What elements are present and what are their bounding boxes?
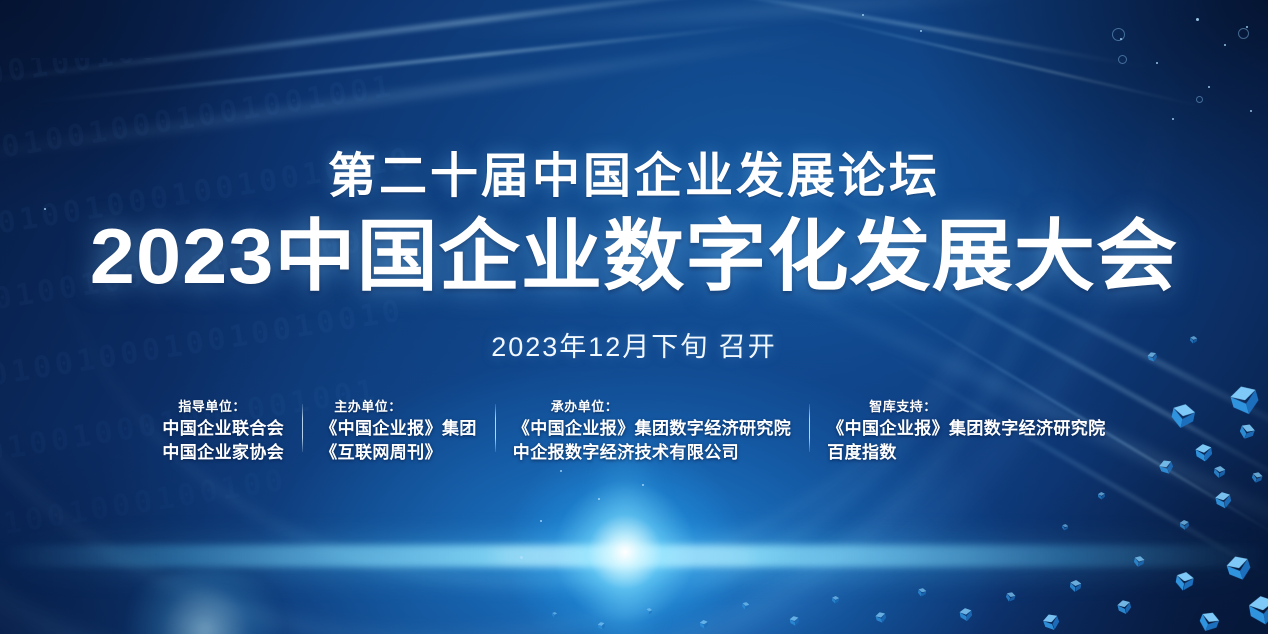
organizer-name: 中国企业家协会 (162, 441, 284, 466)
organizer-name: 《互联网周刊》 (320, 441, 477, 466)
event-date: 2023年12月下旬 召开 (0, 325, 1268, 364)
organizer-column-2: 承办单位：《中国企业报》集团数字经济研究院中企报数字经济技术有限公司 (495, 398, 809, 466)
organizer-label: 主办单位： (320, 398, 477, 417)
organizer-name: 百度指数 (827, 441, 1105, 466)
organizer-column-1: 主办单位：《中国企业报》集团《互联网周刊》 (302, 398, 495, 466)
forum-subtitle: 第二十届中国企业发展论坛 (0, 152, 1268, 203)
organizer-name: 《中国企业报》集团数字经济研究院 (827, 417, 1105, 442)
organizer-name: 《中国企业报》集团 (320, 417, 477, 442)
organizer-label: 承办单位： (513, 398, 791, 417)
organizer-name: 中企报数字经济技术有限公司 (513, 441, 791, 466)
page-title: 2023中国企业数字化发展大会 (0, 213, 1268, 300)
organizer-strip: 指导单位：中国企业联合会中国企业家协会主办单位：《中国企业报》集团《互联网周刊》… (0, 398, 1268, 466)
organizer-name: 《中国企业报》集团数字经济研究院 (513, 417, 791, 442)
conference-poster: 0010010001001001001001001000100100100100… (0, 0, 1268, 634)
organizer-column-0: 指导单位：中国企业联合会中国企业家协会 (144, 398, 302, 466)
organizer-column-3: 智库支持：《中国企业报》集团数字经济研究院百度指数 (809, 398, 1123, 466)
organizer-name: 中国企业联合会 (162, 417, 284, 442)
poster-content: 第二十届中国企业发展论坛 2023中国企业数字化发展大会 2023年12月下旬 … (0, 0, 1268, 634)
organizer-label: 指导单位： (162, 398, 284, 417)
organizer-label: 智库支持： (827, 398, 1105, 417)
